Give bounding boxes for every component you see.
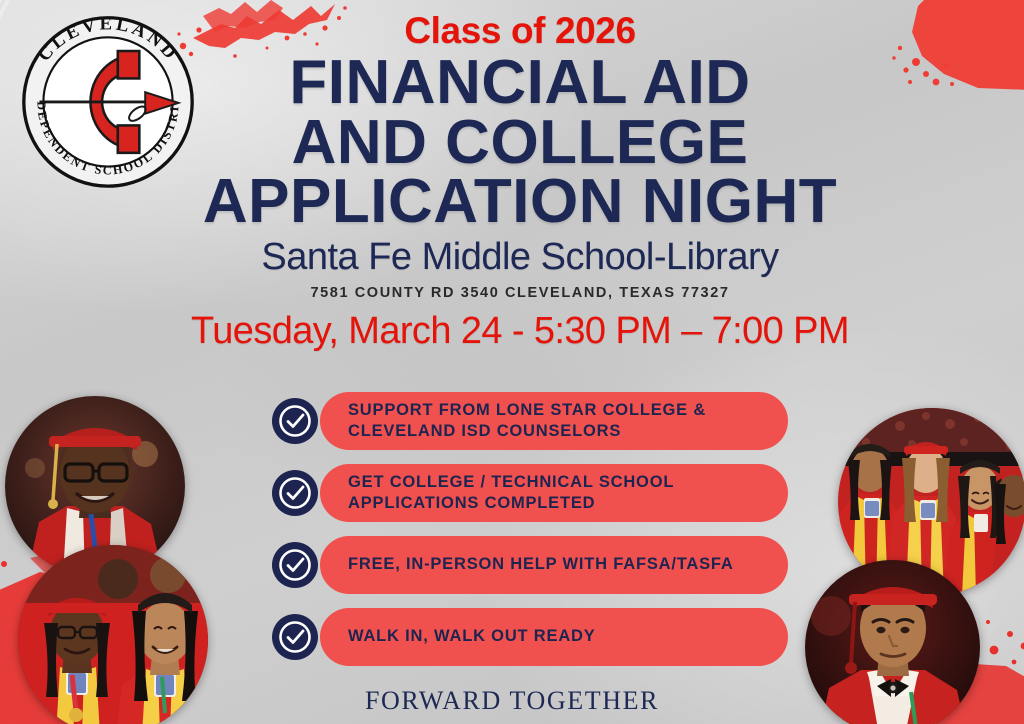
list-item-line: FREE, IN-PERSON HELP WITH FAFSA/TASFA bbox=[348, 554, 734, 575]
list-item: GET COLLEGE / TECHNICAL SCHOOL APPLICATI… bbox=[272, 464, 788, 522]
check-circle-icon bbox=[272, 470, 318, 516]
eyebrow-class-of: Class of 2026 bbox=[150, 12, 890, 49]
list-item-text: WALK IN, WALK OUT READY bbox=[348, 626, 596, 647]
list-item: FREE, IN-PERSON HELP WITH FAFSA/TASFA bbox=[272, 536, 788, 594]
list-item-line: CLEVELAND ISD COUNSELORS bbox=[348, 421, 706, 442]
list-item-line: GET COLLEGE / TECHNICAL SCHOOL bbox=[348, 472, 674, 493]
list-item-text: GET COLLEGE / TECHNICAL SCHOOL APPLICATI… bbox=[348, 472, 674, 514]
list-item-text: SUPPORT FROM LONE STAR COLLEGE & CLEVELA… bbox=[348, 400, 706, 442]
list-item-pill: SUPPORT FROM LONE STAR COLLEGE & CLEVELA… bbox=[320, 392, 788, 450]
headline-block: Class of 2026 FINANCIAL AID AND COLLEGE … bbox=[150, 12, 890, 353]
page-title: FINANCIAL AID AND COLLEGE APPLICATION NI… bbox=[150, 53, 890, 232]
list-item: SUPPORT FROM LONE STAR COLLEGE & CLEVELA… bbox=[272, 392, 788, 450]
list-item-pill: GET COLLEGE / TECHNICAL SCHOOL APPLICATI… bbox=[320, 464, 788, 522]
feature-list: SUPPORT FROM LONE STAR COLLEGE & CLEVELA… bbox=[272, 392, 788, 680]
paint-splatter-top-right-icon bbox=[882, 0, 1024, 90]
list-item-line: WALK IN, WALK OUT READY bbox=[348, 626, 596, 647]
title-line-1: FINANCIAL AID bbox=[150, 53, 890, 113]
check-circle-icon bbox=[272, 614, 318, 660]
check-circle-icon bbox=[272, 398, 318, 444]
title-line-2: AND COLLEGE bbox=[150, 113, 890, 173]
check-circle-icon bbox=[272, 542, 318, 588]
event-datetime: Tuesday, March 24 - 5:30 PM – 7:00 PM bbox=[150, 310, 890, 353]
list-item-line: APPLICATIONS COMPLETED bbox=[348, 493, 674, 514]
venue-name: Santa Fe Middle School-Library bbox=[150, 236, 890, 279]
venue-address: 7581 COUNTY RD 3540 CLEVELAND, TEXAS 773… bbox=[150, 285, 890, 301]
list-item: WALK IN, WALK OUT READY bbox=[272, 608, 788, 666]
event-flyer: CLEVELAND INDEPENDENT SCHOOL DISTRICT Cl… bbox=[0, 0, 1024, 724]
list-item-text: FREE, IN-PERSON HELP WITH FAFSA/TASFA bbox=[348, 554, 734, 575]
title-line-3: APPLICATION NIGHT bbox=[150, 172, 890, 232]
list-item-pill: WALK IN, WALK OUT READY bbox=[320, 608, 788, 666]
footer-tagline: FORWARD TOGETHER bbox=[0, 686, 1024, 716]
list-item-line: SUPPORT FROM LONE STAR COLLEGE & bbox=[348, 400, 706, 421]
list-item-pill: FREE, IN-PERSON HELP WITH FAFSA/TASFA bbox=[320, 536, 788, 594]
